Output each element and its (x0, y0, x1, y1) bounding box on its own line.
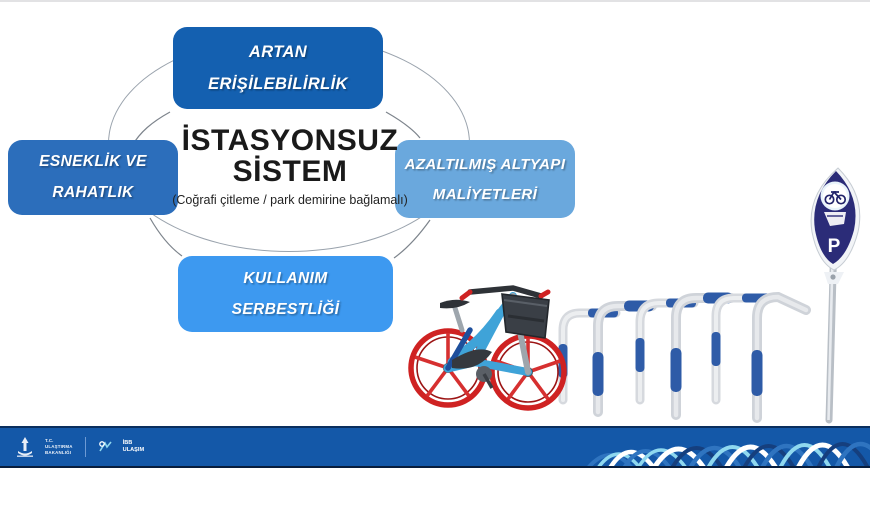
footer-logo-divider (85, 437, 86, 457)
diagram-center-heading: İSTASYONSUZ SİSTEM (Coğrafi çitleme / pa… (150, 126, 430, 208)
center-subtitle: (Coğrafi çitleme / park demirine bağlama… (150, 193, 430, 208)
benefit-box-line1: ESNEKLİK VE (39, 153, 147, 171)
slide-bottom-margin (0, 468, 870, 516)
benefit-box-line2: MALİYETLERİ (433, 186, 537, 203)
benefit-box-artan-erisilebilirlik[interactable]: ARTAN ERİŞİLEBİLİRLİK (173, 27, 383, 109)
ministry-emblem-icon (14, 434, 36, 460)
benefit-box-line1: ARTAN (249, 43, 307, 62)
ibb-ulasim-text: İBB ULAŞIM (123, 440, 144, 455)
benefit-box-line2: SERBESTLİĞİ (232, 301, 340, 319)
slide-footer-bar: T.C. ULAŞTIRMA BAKANLIĞI İBB ULAŞIM (0, 426, 870, 468)
benefit-box-line2: RAHATLIK (52, 184, 133, 202)
benefit-box-kullanim-serbestligi[interactable]: KULLANIM SERBESTLİĞİ (178, 256, 393, 332)
ibb-ulasim-icon (98, 439, 114, 455)
center-title-line2: SİSTEM (150, 157, 430, 188)
footer-logo-group: T.C. ULAŞTIRMA BAKANLIĞI İBB ULAŞIM (14, 432, 144, 462)
benefit-box-line1: KULLANIM (243, 270, 327, 288)
footer-wave-pattern (580, 428, 870, 466)
ministry-logo-text: T.C. ULAŞTIRMA BAKANLIĞI (45, 438, 73, 456)
presentation-slide: ARTAN ERİŞİLEBİLİRLİK ESNEKLİK VE RAHATL… (0, 0, 870, 516)
benefit-box-line2: ERİŞİLEBİLİRLİK (208, 75, 348, 94)
center-title-line1: İSTASYONSUZ (150, 126, 430, 157)
